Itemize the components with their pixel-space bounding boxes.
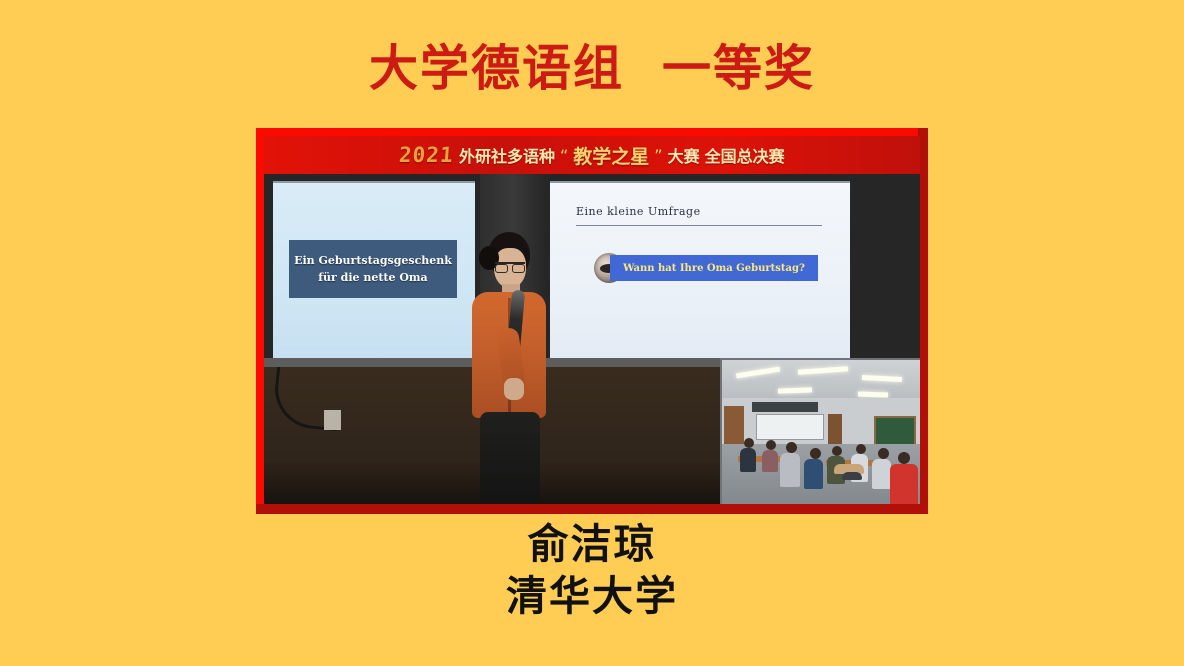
student-body bbox=[762, 450, 778, 472]
survey-divider bbox=[576, 225, 822, 226]
page-title: 大学德语组 一等奖 bbox=[0, 38, 1184, 99]
presenter-institution: 清华大学 bbox=[0, 570, 1184, 622]
stage-scene: Ein Geburtstagsgeschenk für die nette Om… bbox=[264, 174, 920, 506]
student-head bbox=[856, 444, 866, 454]
student-body bbox=[890, 464, 918, 506]
stage-floor-box-left bbox=[324, 410, 341, 430]
event-type-label: 大赛 bbox=[668, 143, 700, 167]
student-head bbox=[810, 448, 821, 459]
event-stage-label: 全国总决赛 bbox=[705, 143, 785, 167]
student-head bbox=[898, 452, 910, 464]
presenter-caption: 俞洁琼 清华大学 bbox=[0, 518, 1184, 623]
student-body bbox=[804, 459, 823, 489]
quote-open-mark: “ bbox=[560, 146, 568, 165]
student-body bbox=[740, 448, 756, 472]
survey-question-box: Wann hat Ihre Oma Geburtstag? bbox=[610, 255, 818, 281]
survey-heading: Eine kleine Umfrage bbox=[576, 205, 701, 218]
left-projection-screen: Ein Geburtstagsgeschenk für die nette Om… bbox=[273, 181, 475, 363]
survey-question-text: Wann hat Ihre Oma Geburtstag? bbox=[623, 263, 805, 274]
quote-close-mark: ” bbox=[654, 146, 662, 165]
student-head bbox=[786, 442, 797, 453]
event-org-label: 外研社多语种 bbox=[459, 143, 555, 167]
presentation-title-banner: Ein Geburtstagsgeschenk für die nette Om… bbox=[289, 240, 457, 298]
desk-bag bbox=[842, 472, 862, 480]
right-projection-screen: Eine kleine Umfrage Wann hat Ihre Oma Ge… bbox=[550, 181, 850, 363]
student-head bbox=[878, 448, 889, 459]
student-head bbox=[744, 438, 754, 448]
presenter-with-microphone-icon bbox=[464, 232, 556, 506]
event-year: 2021 bbox=[399, 143, 455, 167]
event-highlight: 教学之星 bbox=[573, 142, 649, 169]
presentation-title-line1: Ein Geburtstagsgeschenk bbox=[294, 254, 452, 267]
event-banner: 2021 外研社多语种 “ 教学之星 ” 大赛 全国总决赛 bbox=[264, 136, 920, 174]
classroom-audience-video-icon[interactable] bbox=[720, 358, 920, 506]
student-body bbox=[780, 453, 800, 487]
presenter-hand bbox=[504, 378, 524, 400]
student-head bbox=[766, 440, 776, 450]
presenter-pants bbox=[480, 412, 540, 506]
presenter-name: 俞洁琼 bbox=[0, 518, 1184, 570]
whiteboard-icon bbox=[756, 414, 824, 440]
student-head bbox=[832, 446, 842, 456]
presentation-title-line2: für die nette Oma bbox=[318, 271, 427, 284]
video-frame[interactable]: 2021 外研社多语种 “ 教学之星 ” 大赛 全国总决赛 Ein Geburt… bbox=[256, 128, 928, 514]
classroom-upper-window bbox=[752, 402, 818, 412]
ceiling-light-icon bbox=[858, 391, 888, 397]
student-body bbox=[872, 459, 891, 489]
glasses-icon bbox=[495, 262, 525, 270]
